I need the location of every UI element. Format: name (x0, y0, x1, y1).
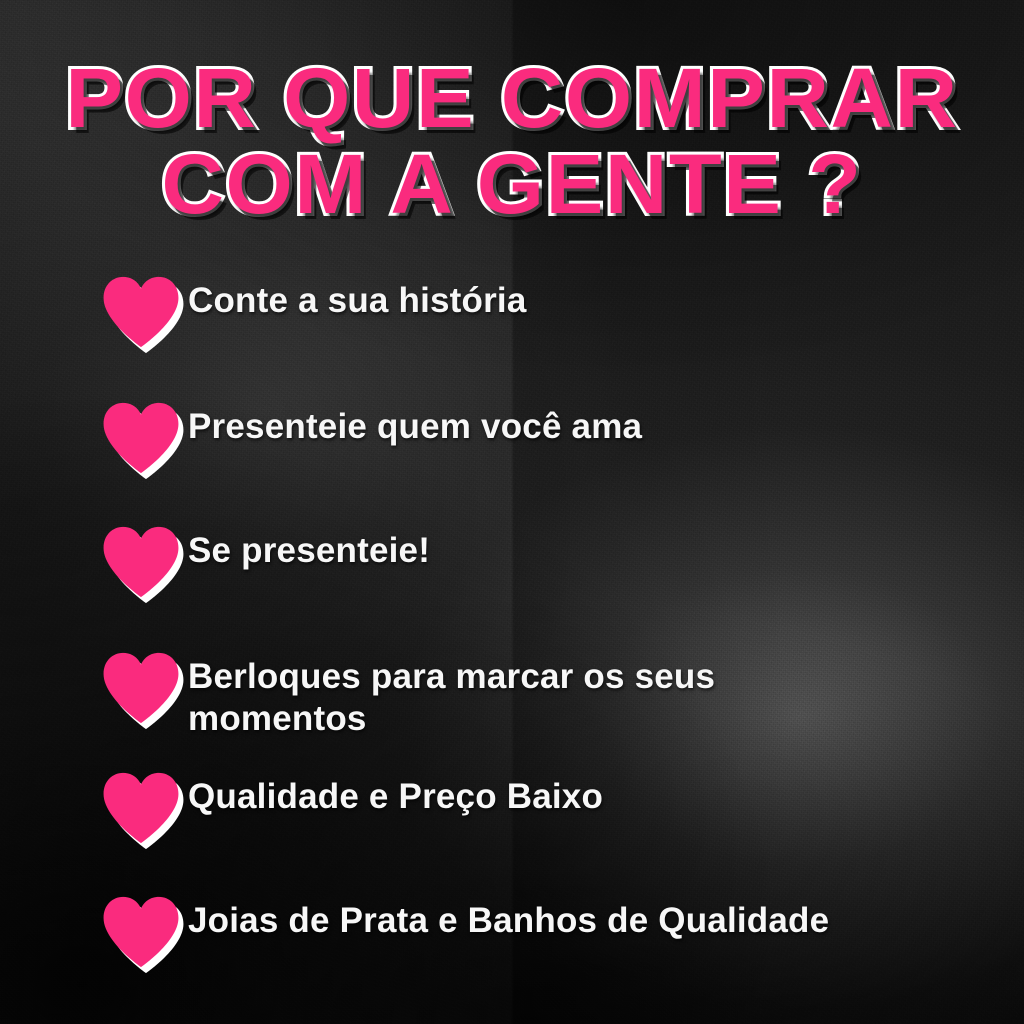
benefit-item: Conte a sua história (96, 272, 956, 354)
heart-icon (102, 652, 180, 724)
benefit-item: Joias de Prata e Banhos de Qualidade (96, 892, 956, 974)
benefit-item: Se presenteie! (96, 522, 956, 604)
heart-icon (102, 402, 180, 474)
benefit-text: Berloques para marcar os seus momentos (188, 648, 878, 740)
heart-icon (102, 276, 180, 348)
benefit-item: Qualidade e Preço Baixo (96, 768, 956, 850)
poster-heading: POR QUE COMPRAR COM A GENTE ? (0, 58, 1024, 224)
benefit-text: Conte a sua história (188, 272, 527, 322)
heart-icon-wrap (96, 652, 188, 730)
heart-icon-wrap (96, 276, 188, 354)
benefit-text: Presenteie quem você ama (188, 398, 642, 448)
heart-icon-wrap (96, 772, 188, 850)
poster-canvas: POR QUE COMPRAR COM A GENTE ? Conte a su… (0, 0, 1024, 1024)
heart-icon (102, 896, 180, 968)
benefit-text: Joias de Prata e Banhos de Qualidade (188, 892, 829, 942)
benefits-list: Conte a sua história Presenteie quem voc… (96, 272, 956, 974)
heart-icon-wrap (96, 402, 188, 480)
heading-line-2: COM A GENTE ? (0, 144, 1024, 224)
heading-line-1: POR QUE COMPRAR (0, 58, 1024, 138)
benefit-item: Berloques para marcar os seus momentos (96, 648, 956, 740)
heart-icon-wrap (96, 896, 188, 974)
heart-icon (102, 526, 180, 598)
benefit-item: Presenteie quem você ama (96, 398, 956, 480)
benefit-text: Se presenteie! (188, 522, 430, 572)
heart-icon-wrap (96, 526, 188, 604)
heart-icon (102, 772, 180, 844)
benefit-text: Qualidade e Preço Baixo (188, 768, 603, 818)
